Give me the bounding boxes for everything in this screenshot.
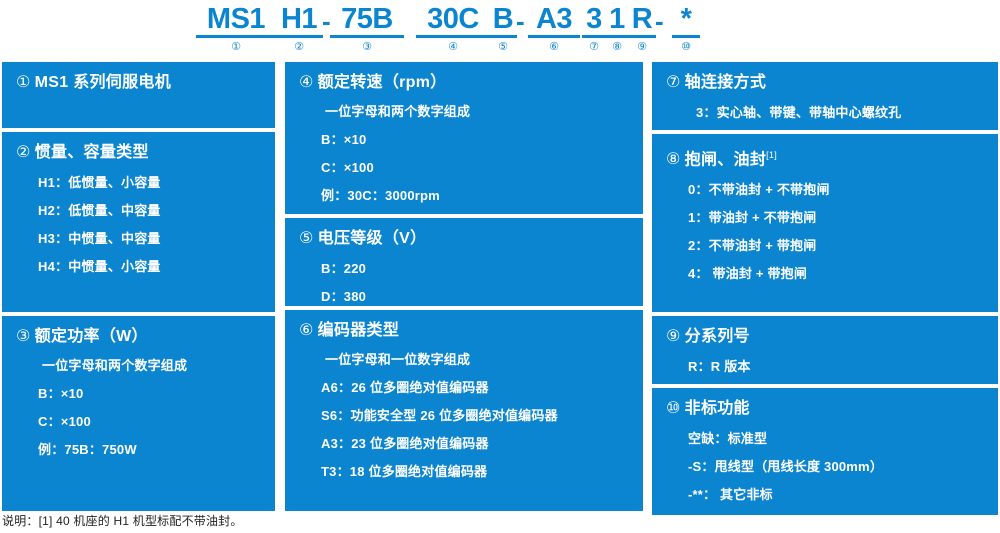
panel-title: ⑤电压等级（V） [299, 228, 633, 250]
code-token: MS1 [196, 4, 276, 38]
panel-subtitle: 一位字母和两个数字组成 [42, 356, 265, 375]
code-index-marker: ⑧ [605, 41, 629, 54]
panel-option-item: -**： 其它非标 [688, 485, 988, 504]
code-segment-3: 75B③ [330, 4, 404, 54]
code-index-marker: ① [196, 41, 276, 54]
panel-title-label: 编码器类型 [318, 322, 400, 339]
code-separator-dash: - [322, 6, 331, 36]
panel-title: ⑧抱闸、油封[1] [666, 144, 988, 171]
code-index-marker: ② [275, 41, 323, 54]
code-segment-5: B⑤ [489, 4, 517, 54]
panel-option-item: 0：不带油封 + 不带抱闸 [688, 180, 988, 199]
footnote-text: 说明：[1] 40 机座的 H1 机型标配不带油封。 [2, 513, 243, 529]
footnote-reference: [1] [766, 150, 777, 160]
panel-title-label: 轴连接方式 [685, 74, 767, 91]
panel-option-item: C：×100 [321, 158, 633, 177]
panel-title-label: 额定转速（rpm） [318, 74, 447, 91]
panel-option-item: A6：26 位多圈绝对值编码器 [321, 378, 633, 397]
spec-panel-⑩: ⑩非标功能空缺：标准型-S：甩线型（甩线长度 300mm）-**： 其它非标 [652, 388, 998, 515]
panel-option-item: B：×10 [38, 384, 265, 403]
spec-panel-④: ④额定转速（rpm）一位字母和两个数字组成B：×10C：×100例：30C：30… [285, 62, 643, 214]
panel-option-item: R：R 版本 [688, 357, 988, 376]
panel-option-item: A3：23 位多圈绝对值编码器 [321, 434, 633, 453]
spec-panel-⑧: ⑧抱闸、油封[1]0：不带油封 + 不带抱闸1：带油封 + 不带抱闸2：不带油封… [652, 134, 998, 312]
panel-title: ①MS1 系列伺服电机 [16, 72, 265, 94]
panel-index-marker: ⑦ [666, 72, 681, 94]
panel-title: ⑦轴连接方式 [666, 72, 988, 94]
panel-title: ③额定功率（W） [16, 326, 265, 348]
code-segment-8: 1⑧ [605, 4, 629, 54]
panel-index-marker: ① [16, 72, 31, 94]
panel-index-marker: ⑤ [299, 228, 314, 250]
panel-index-marker: ④ [299, 72, 314, 94]
code-token: 1 [605, 4, 629, 38]
code-token: B [489, 4, 517, 38]
code-segment-4: 30C④ [416, 4, 490, 54]
panel-title: ⑥编码器类型 [299, 320, 633, 342]
panel-title-label: 抱闸、油封 [685, 151, 767, 168]
panel-title: ④额定转速（rpm） [299, 72, 633, 94]
code-index-marker: ⑦ [582, 41, 606, 54]
panel-column-1: ①MS1 系列伺服电机②惯量、容量类型H1：低惯量、小容量H2：低惯量、中容量H… [2, 62, 275, 515]
spec-panel-⑥: ⑥编码器类型一位字母和一位数字组成A6：26 位多圈绝对值编码器S6：功能安全型… [285, 310, 643, 511]
panel-index-marker: ⑩ [666, 398, 681, 420]
panel-option-item: 例：75B：750W [38, 440, 265, 459]
panel-option-item: B：220 [321, 259, 633, 278]
panel-title-label: 惯量、容量类型 [35, 144, 149, 161]
code-index-marker: ⑤ [489, 41, 517, 54]
code-segment-7: 3⑦ [582, 4, 606, 54]
panel-title-label: MS1 系列伺服电机 [35, 74, 171, 91]
spec-panel-⑦: ⑦轴连接方式3：实心轴、带键、带轴中心螺纹孔 [652, 62, 998, 130]
code-segment-2: H1② [275, 4, 323, 54]
panel-option-item: D：380 [321, 287, 633, 306]
panel-index-marker: ② [16, 142, 31, 164]
code-token: 75B [330, 4, 404, 38]
panel-option-item: S6：功能安全型 26 位多圈绝对值编码器 [321, 406, 633, 425]
panel-option-item: -S：甩线型（甩线长度 300mm） [688, 457, 988, 476]
code-token: A3 [528, 4, 580, 38]
panel-subtitle: 一位字母和两个数字组成 [325, 102, 633, 121]
panel-title-label: 电压等级（V） [318, 230, 427, 247]
code-segment-9: R⑨ [628, 4, 656, 54]
panel-option-item: 空缺：标准型 [688, 429, 988, 448]
panel-option-item: 例：30C：3000rpm [321, 186, 633, 205]
code-index-marker: ④ [416, 41, 490, 54]
panel-option-item: H3：中惯量、中容量 [38, 229, 265, 248]
spec-panel-②: ②惯量、容量类型H1：低惯量、小容量H2：低惯量、中容量H3：中惯量、中容量H4… [2, 132, 275, 312]
panel-column-3: ⑦轴连接方式3：实心轴、带键、带轴中心螺纹孔⑧抱闸、油封[1]0：不带油封 + … [652, 62, 998, 519]
panel-index-marker: ③ [16, 326, 31, 348]
panel-option-item: 4： 带油封 + 带抱闸 [688, 264, 988, 283]
code-index-marker: ⑨ [628, 41, 656, 54]
panel-subtitle: 一位字母和一位数字组成 [325, 350, 633, 369]
panel-option-item: 3：实心轴、带键、带轴中心螺纹孔 [696, 103, 988, 122]
panel-title-label: 额定功率（W） [35, 328, 148, 345]
panel-title: ②惯量、容量类型 [16, 142, 265, 164]
code-token: 30C [416, 4, 490, 38]
code-index-marker: ⑩ [672, 41, 700, 54]
code-segment-1: MS1① [196, 4, 276, 54]
panel-option-item: H4：中惯量、小容量 [38, 257, 265, 276]
panel-column-2: ④额定转速（rpm）一位字母和两个数字组成B：×10C：×100例：30C：30… [285, 62, 643, 515]
panel-option-item: H2：低惯量、中容量 [38, 201, 265, 220]
panel-option-item: H1：低惯量、小容量 [38, 173, 265, 192]
panel-title: ⑨分系列号 [666, 326, 988, 348]
panel-option-item: 2：不带油封 + 带抱闸 [688, 236, 988, 255]
panel-title-label: 分系列号 [685, 328, 750, 345]
panel-index-marker: ⑧ [666, 149, 681, 171]
panel-option-item: C：×100 [38, 412, 265, 431]
panel-option-item: 1：带油封 + 不带抱闸 [688, 208, 988, 227]
panel-index-marker: ⑨ [666, 326, 681, 348]
code-token: * [672, 4, 700, 38]
model-code-header: MS1①H1②75B③30C④B⑤A3⑥3⑦1⑧R⑨*⑩--- [0, 0, 1000, 55]
spec-panel-⑨: ⑨分系列号R：R 版本 [652, 316, 998, 384]
code-token: R [628, 4, 656, 38]
code-segment-6: A3⑥ [528, 4, 580, 54]
spec-panel-③: ③额定功率（W）一位字母和两个数字组成B：×10C：×100例：75B：750W [2, 316, 275, 511]
panel-option-item: T3：18 位多圈绝对值编码器 [321, 462, 633, 481]
code-separator-dash: - [655, 6, 664, 36]
code-token: H1 [275, 4, 323, 38]
code-token: 3 [582, 4, 606, 38]
panel-index-marker: ⑥ [299, 320, 314, 342]
panel-option-item: B：×10 [321, 130, 633, 149]
code-index-marker: ⑥ [528, 41, 580, 54]
panel-title-label: 非标功能 [685, 400, 750, 417]
code-separator-dash: - [516, 6, 525, 36]
panel-title: ⑩非标功能 [666, 398, 988, 420]
code-segment-10: *⑩ [672, 4, 700, 54]
code-index-marker: ③ [330, 41, 404, 54]
spec-panel-⑤: ⑤电压等级（V）B：220D：380 [285, 218, 643, 306]
spec-panel-①: ①MS1 系列伺服电机 [2, 62, 275, 128]
